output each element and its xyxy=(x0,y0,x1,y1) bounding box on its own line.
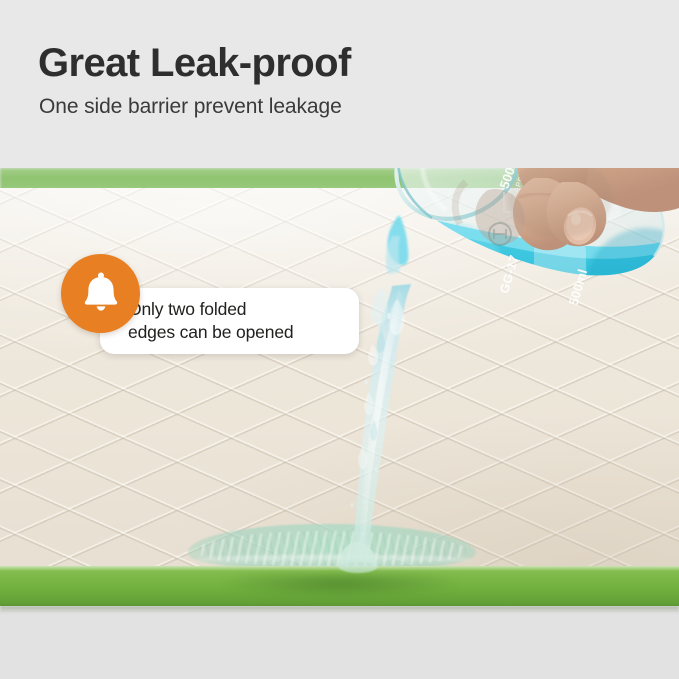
header-band: Great Leak-proof One side barrier preven… xyxy=(0,0,679,168)
water-puddle-highlight xyxy=(196,555,472,564)
backdrop-floor xyxy=(0,610,679,679)
callout-text: Only two folded edges can be opened xyxy=(128,298,360,344)
bell-icon xyxy=(81,270,121,317)
page-subtitle: One side barrier prevent leakage xyxy=(39,95,342,119)
svg-text:GG-17: GG-17 xyxy=(497,253,521,295)
barrier-wet-shadow xyxy=(200,574,480,596)
callout-badge xyxy=(61,254,140,333)
barrier-base-shadow xyxy=(0,606,679,613)
barrier-highlight xyxy=(0,566,679,571)
leak-proof-barrier xyxy=(0,566,679,606)
product-feature-image: 500 APPROX 300 200 500ml GG-17 xyxy=(0,0,679,679)
page-title: Great Leak-proof xyxy=(38,42,351,84)
svg-text:500ml: 500ml xyxy=(566,267,591,307)
